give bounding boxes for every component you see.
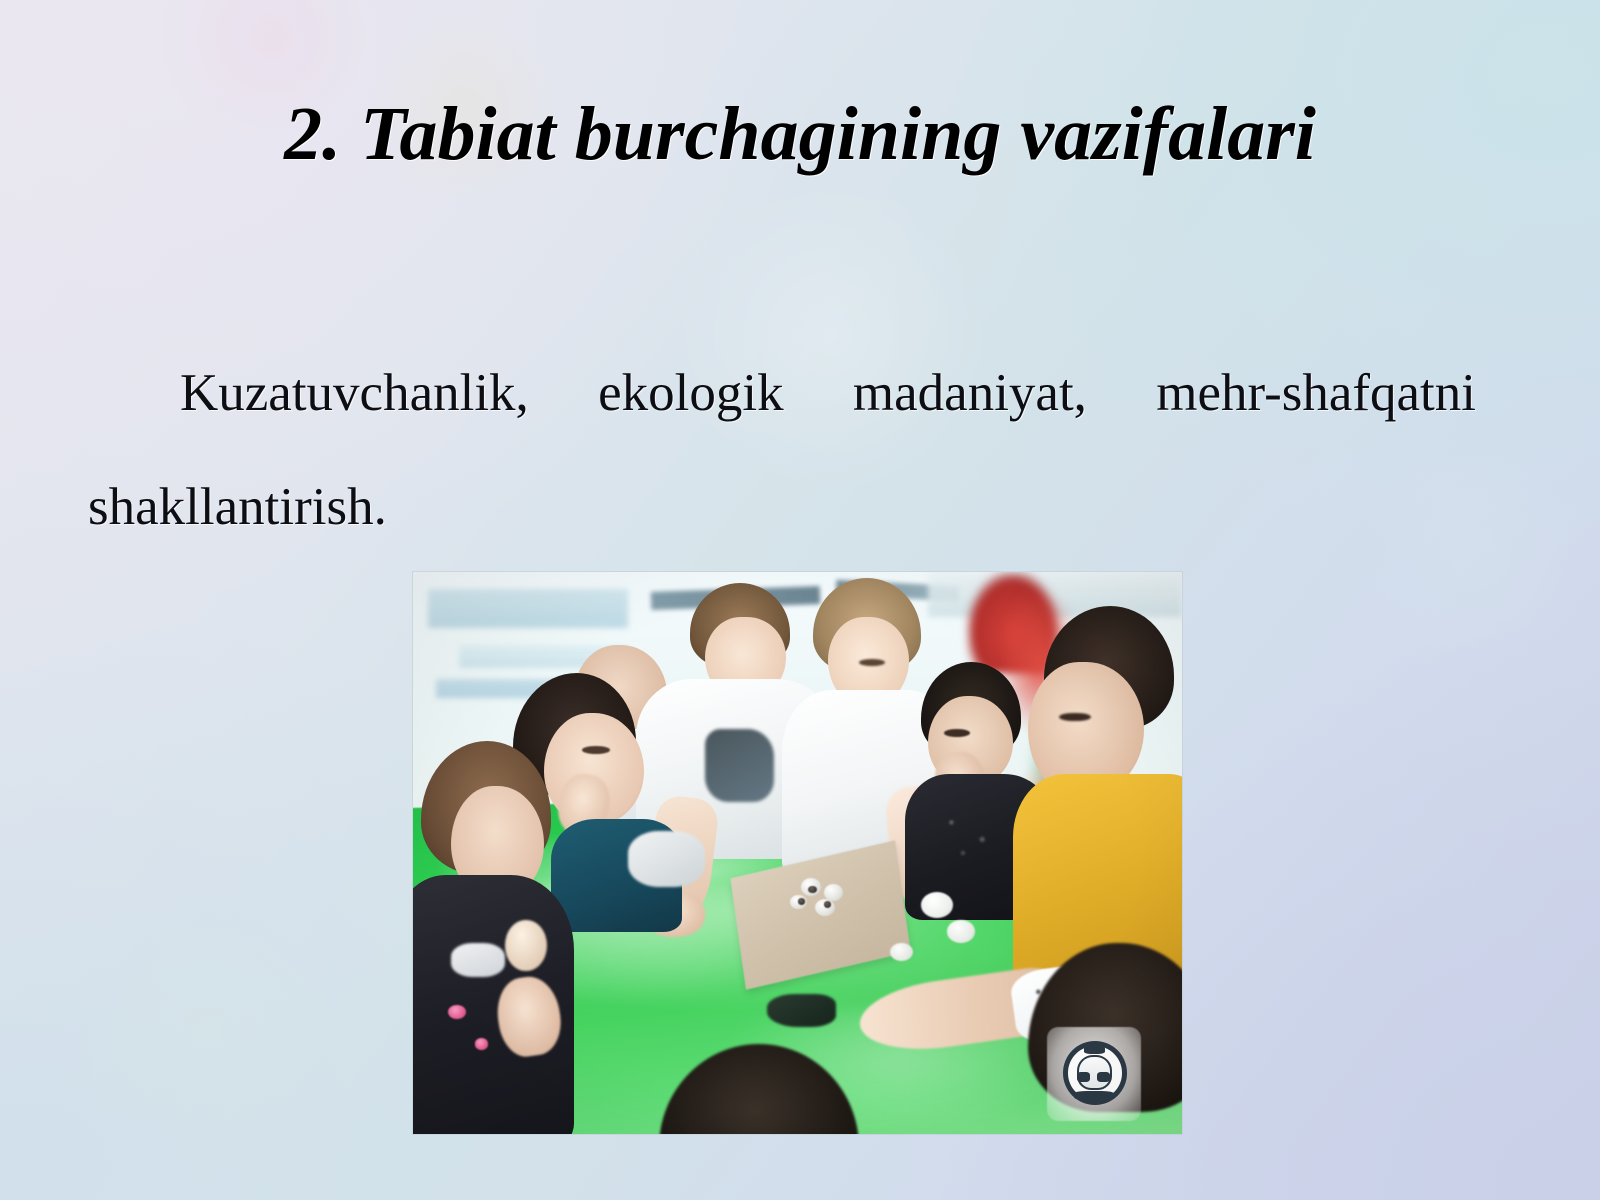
photo-jacket-pattern <box>936 802 1013 869</box>
photo-shirt-print <box>705 729 774 802</box>
logo-top-detail-icon <box>1084 1046 1106 1054</box>
photo-jacket-pink-detail <box>475 1038 489 1049</box>
slide-photo <box>413 572 1182 1134</box>
photo-seed-dark <box>808 886 816 893</box>
logo-base-bar-icon <box>1074 1091 1114 1100</box>
photo-white-container <box>947 920 975 942</box>
photo-white-container <box>890 943 913 961</box>
photo-dark-object-on-table <box>767 994 836 1028</box>
logo-right-dot-icon <box>1097 1072 1109 1082</box>
photo-shelf-upper <box>428 589 628 628</box>
photo-child-center-left-sleeve <box>628 831 705 887</box>
photo-seed-dark <box>798 898 806 905</box>
photo-held-object <box>505 920 547 971</box>
photo-white-container <box>921 892 953 918</box>
presentation-slide: 2. Tabiat burchagining vazifalari Kuzatu… <box>0 0 1600 1200</box>
logo-left-dot-icon <box>1077 1072 1089 1082</box>
photo-jacket-patch <box>451 943 505 977</box>
photo-child-center-left-eye <box>582 746 610 754</box>
page-title: 2. Tabiat burchagining vazifalari <box>0 96 1600 172</box>
